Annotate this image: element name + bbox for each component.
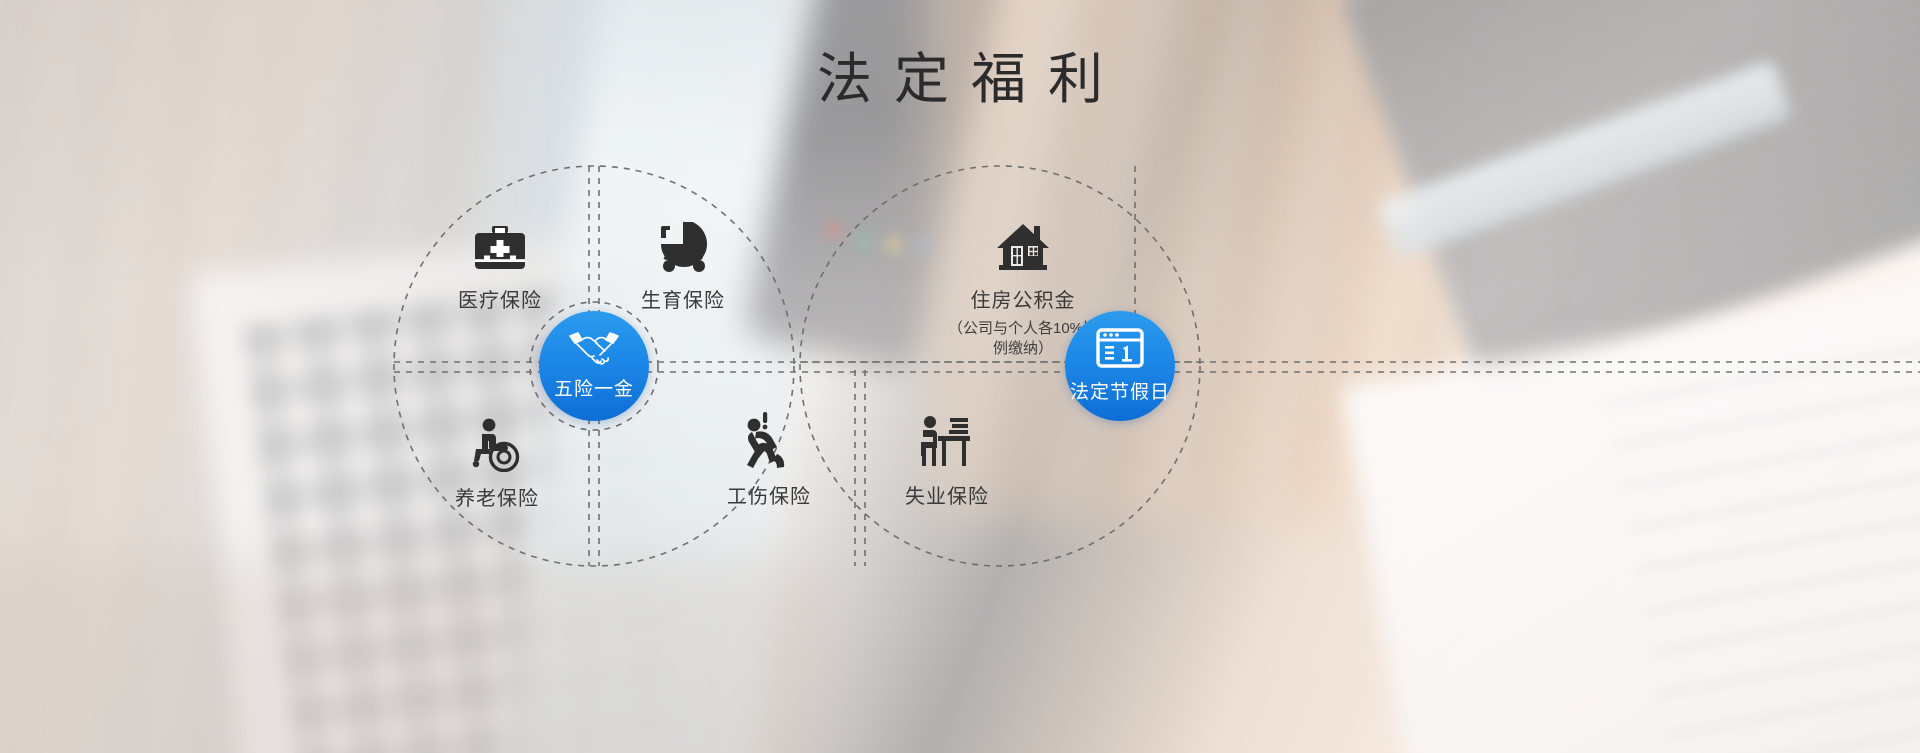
wheelchair-icon xyxy=(387,410,607,472)
node-unemployment-insurance[interactable]: 失业保险 xyxy=(837,408,1057,509)
node-pension-insurance[interactable]: 养老保险 xyxy=(387,410,607,511)
node-label: 养老保险 xyxy=(387,482,607,511)
node-maternity-insurance[interactable]: 生育保险 xyxy=(573,212,793,313)
calendar-window-icon xyxy=(1096,328,1144,368)
center-badge-label: 五险一金 xyxy=(554,374,634,401)
holiday-badge-label: 法定节假日 xyxy=(1070,377,1170,404)
handshake-icon xyxy=(566,331,622,365)
node-label: 生育保险 xyxy=(573,284,793,313)
diagram-canvas xyxy=(0,0,1920,753)
node-label: 住房公积金 xyxy=(913,284,1133,313)
holiday-badge[interactable]: 法定节假日 xyxy=(1065,311,1175,421)
desk-worker-icon xyxy=(837,408,1057,470)
node-label: 失业保险 xyxy=(837,480,1057,509)
benefits-infographic: 法定福利 xyxy=(0,0,1920,753)
baby-stroller-icon xyxy=(573,212,793,274)
dashed-guides xyxy=(0,0,1920,753)
center-badge-five-insurances[interactable]: 五险一金 xyxy=(539,311,649,421)
house-icon xyxy=(913,212,1133,274)
